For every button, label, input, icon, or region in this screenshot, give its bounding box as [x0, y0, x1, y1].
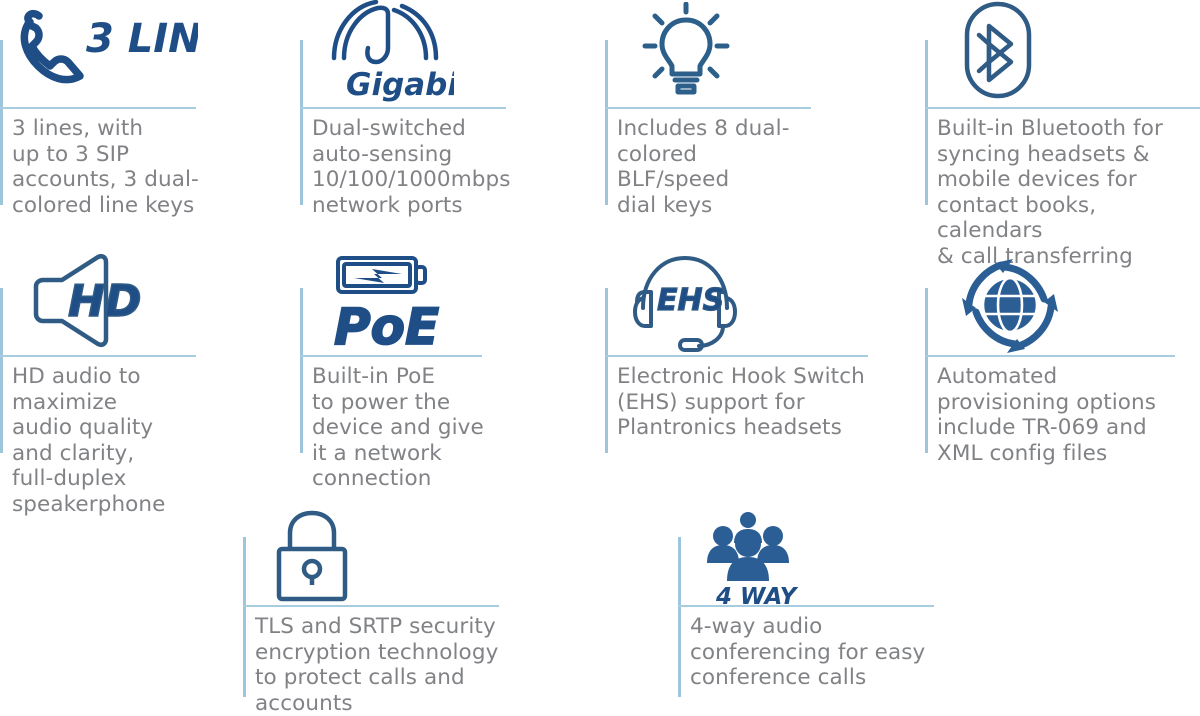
accent-horizontal-rule — [300, 355, 482, 357]
feature-description: Automated provisioning options include T… — [937, 364, 1156, 466]
bluetooth-icon — [949, 0, 1049, 108]
feature-description: Electronic Hook Switch (EHS) support for… — [617, 364, 865, 441]
accent-vertical-rule — [678, 537, 681, 697]
accent-horizontal-rule — [605, 107, 811, 109]
accent-vertical-rule — [300, 288, 303, 453]
accent-vertical-rule — [925, 40, 928, 205]
accent-horizontal-rule — [605, 355, 868, 357]
feature-description: 4-way audio conferencing for easy confer… — [690, 614, 925, 691]
accent-horizontal-rule — [243, 605, 499, 607]
accent-vertical-rule — [300, 40, 303, 205]
lightbulb-icon — [631, 2, 741, 110]
accent-horizontal-rule — [925, 107, 1200, 109]
feature-description: HD audio to maximize audio quality and c… — [12, 364, 166, 517]
accent-horizontal-rule — [0, 355, 196, 357]
hd-speaker-icon: HD — [28, 254, 148, 362]
feature-grid: 3 LINES 3 lines, with up to 3 SIP accoun… — [0, 0, 1200, 712]
svg-text:EHS: EHS — [657, 283, 724, 318]
gigabit-antenna-icon: Gigabit — [324, 0, 454, 108]
svg-text:Gigabit: Gigabit — [346, 67, 454, 103]
headset-icon: EHS — [627, 252, 747, 360]
feature-description: Includes 8 dual- colored BLF/speed dial … — [617, 116, 813, 218]
conference-people-icon: 4 WAY — [704, 511, 814, 619]
svg-text:4 WAY: 4 WAY — [715, 584, 799, 607]
accent-horizontal-rule — [925, 355, 1175, 357]
accent-vertical-rule — [243, 537, 246, 697]
accent-vertical-rule — [0, 288, 3, 453]
accent-vertical-rule — [0, 40, 3, 205]
svg-text:3 LINES: 3 LINES — [86, 16, 198, 62]
feature-description: 3 lines, with up to 3 SIP accounts, 3 du… — [12, 116, 199, 218]
accent-vertical-rule — [925, 288, 928, 453]
accent-vertical-rule — [605, 288, 608, 453]
svg-text:HD: HD — [68, 276, 141, 327]
svg-text:PoE: PoE — [334, 298, 439, 356]
accent-vertical-rule — [605, 40, 608, 205]
feature-description: Built-in Bluetooth for syncing headsets … — [937, 116, 1200, 269]
feature-description: TLS and SRTP security encryption technol… — [255, 614, 498, 716]
globe-sync-icon — [955, 254, 1065, 362]
accent-horizontal-rule — [0, 107, 196, 109]
padlock-icon — [267, 509, 357, 617]
phone-handset-icon: 3 LINES — [8, 4, 198, 112]
feature-description: Built-in PoE to power the device and giv… — [312, 364, 484, 492]
battery-bolt-icon: PoE — [324, 252, 444, 360]
accent-horizontal-rule — [300, 107, 506, 109]
feature-description: Dual-switched auto-sensing 10/100/1000mb… — [312, 116, 511, 218]
accent-horizontal-rule — [678, 605, 934, 607]
